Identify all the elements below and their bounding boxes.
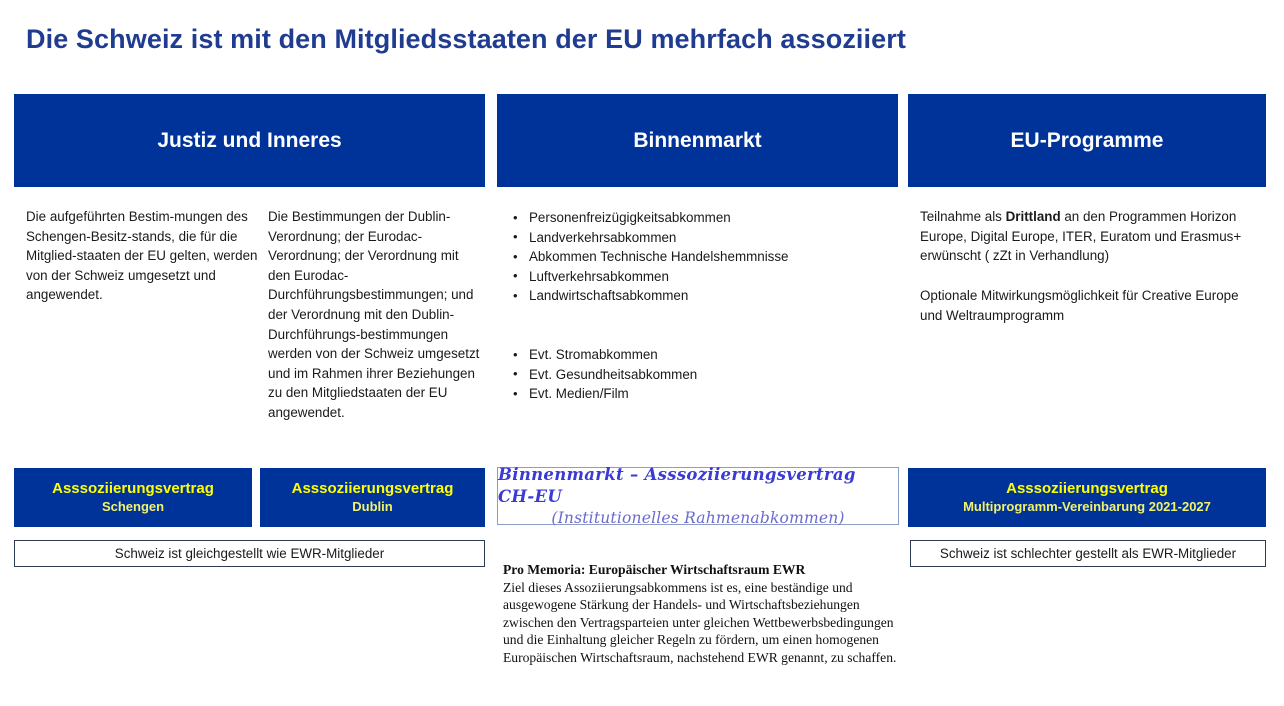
section-header-justiz-und-inneres: Justiz und Inneres: [14, 94, 485, 187]
status-badge-programme: Schweiz ist schlechter gestellt als EWR-…: [910, 540, 1266, 567]
status-badge-justiz: Schweiz ist gleichgestellt wie EWR-Mitgl…: [14, 540, 485, 567]
binnenmarkt-agreements-list: Personenfreizügigkeitsabkommen Landverke…: [510, 208, 890, 306]
slide-canvas: Die Schweiz ist mit den Mitgliedsstaaten…: [0, 0, 1284, 706]
dublin-description: Die Bestimmungen der Dublin-Verordnung; …: [268, 207, 483, 423]
schengen-description: Die aufgeführten Bestim-mungen des Schen…: [26, 207, 258, 305]
framework-agreement-subtitle: (Institutionelles Rahmenabkommen): [551, 508, 844, 529]
contract-box-schengen: Asssoziierungsvertrag Schengen: [14, 468, 252, 527]
list-item: Evt. Gesundheitsabkommen: [510, 365, 890, 385]
contract-box-dublin: Asssoziierungsvertrag Dublin: [260, 468, 485, 527]
pro-memoria-heading: Pro Memoria: Europäischer Wirtschaftsrau…: [503, 561, 903, 579]
programme-optional-description: Optionale Mitwirkungsmöglichkeit für Cre…: [920, 286, 1260, 325]
contract-title: Asssoziierungsvertrag: [292, 479, 454, 498]
list-item: Landwirtschaftsabkommen: [510, 286, 890, 306]
list-item: Evt. Medien/Film: [510, 384, 890, 404]
list-item: Evt. Stromabkommen: [510, 345, 890, 365]
list-item: Personenfreizügigkeitsabkommen: [510, 208, 890, 228]
contract-title: Asssoziierungsvertrag: [1006, 479, 1168, 498]
contract-subtitle: Multiprogramm-Vereinbarung 2021-2027: [963, 498, 1211, 516]
framework-agreement-title: Binnenmarkt – Asssoziierungsvertrag CH-E…: [498, 464, 898, 508]
programme-participation-description: Teilnahme als Drittland an den Programme…: [920, 207, 1260, 266]
section-header-eu-programme: EU-Programme: [908, 94, 1266, 187]
list-item: Landverkehrsabkommen: [510, 228, 890, 248]
pro-memoria-body: Ziel dieses Assoziierungsabkommens ist e…: [503, 580, 896, 665]
contract-subtitle: Dublin: [352, 498, 392, 516]
binnenmarkt-potential-agreements-list: Evt. Stromabkommen Evt. Gesundheitsabkom…: [510, 345, 890, 404]
pro-memoria-block: Pro Memoria: Europäischer Wirtschaftsrau…: [503, 561, 903, 667]
programme-text-prefix: Teilnahme als: [920, 209, 1006, 224]
section-header-label: Justiz und Inneres: [157, 129, 341, 153]
programme-text-drittland: Drittland: [1006, 209, 1061, 224]
framework-agreement-box: Binnenmarkt – Asssoziierungsvertrag CH-E…: [497, 467, 899, 525]
contract-subtitle: Schengen: [102, 498, 164, 516]
list-item: Luftverkehrsabkommen: [510, 267, 890, 287]
list-item: Abkommen Technische Handelshemmnisse: [510, 247, 890, 267]
contract-box-multiprogramm: Asssoziierungsvertrag Multiprogramm-Vere…: [908, 468, 1266, 527]
page-title: Die Schweiz ist mit den Mitgliedsstaaten…: [26, 24, 1226, 55]
section-header-label: Binnenmarkt: [633, 129, 761, 153]
section-header-binnenmarkt: Binnenmarkt: [497, 94, 898, 187]
contract-title: Asssoziierungsvertrag: [52, 479, 214, 498]
section-header-label: EU-Programme: [1011, 129, 1164, 153]
